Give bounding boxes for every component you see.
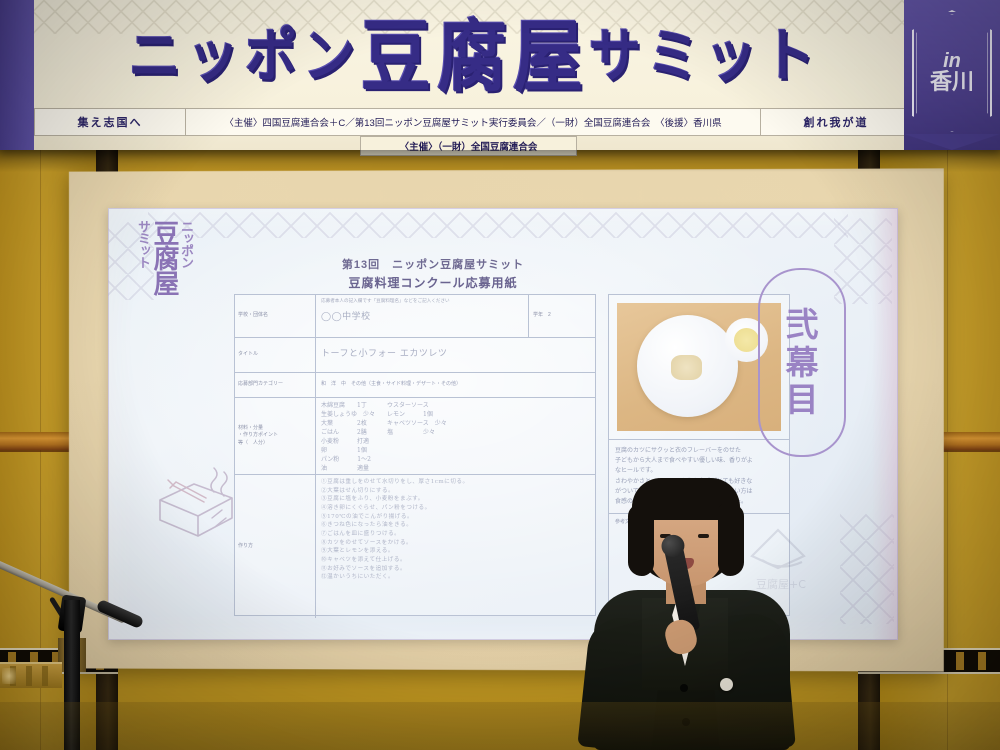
- banner-title-char: ニ: [129, 28, 181, 86]
- banner-title-char: ン: [303, 28, 355, 86]
- blazer-button: [680, 684, 688, 692]
- sconce-light-glow: [2, 668, 16, 684]
- photo-scene: サミット 豆腐屋 ニッポン 第13回 ニッポン豆腐屋サミット 豆腐料理コンクール…: [0, 0, 1000, 750]
- presenter-lapel-badge: [720, 678, 733, 691]
- banner-right-edge: in 香川: [904, 0, 1000, 150]
- banner-title-char: ッ: [187, 28, 239, 86]
- banner-title-char: サ: [589, 28, 641, 86]
- badge-kagawa-label: 香川: [930, 72, 974, 94]
- in-kagawa-badge: in 香川: [912, 10, 992, 136]
- banner-info-bar: 集え志国へ 〈主催〉四国豆腐連合会＋C／第13回ニッポン豆腐屋サミット実行委員会…: [34, 108, 912, 136]
- banner-title-char: ミ: [647, 28, 699, 86]
- banner-left-slogan: 集え志国へ: [35, 109, 186, 135]
- banner-left-edge: [0, 0, 34, 150]
- presenter-eye-right: [698, 534, 709, 538]
- banner-drop-shadow: [0, 150, 1000, 172]
- banner-right-slogan: 創れ我が道: [761, 109, 911, 135]
- banner-title: ニ ッ ポ ン 豆 腐 屋 サ ミ ッ ト: [34, 8, 910, 106]
- banner-title-char: ポ: [245, 28, 297, 86]
- banner-title-char: 豆: [361, 18, 431, 96]
- banner-title-char: ッ: [705, 28, 757, 86]
- banner-title-char: 腐: [437, 18, 507, 96]
- badge-in-label: in: [943, 51, 961, 71]
- presenter-hair-right: [718, 504, 744, 576]
- banner-title-char: 屋: [513, 18, 583, 96]
- presenter-hair-left: [628, 504, 654, 576]
- banner-organizers: 〈主催〉四国豆腐連合会＋C／第13回ニッポン豆腐屋サミット実行委員会／（一財）全…: [186, 109, 761, 135]
- stage-floor: [0, 702, 1000, 750]
- banner-title-char: ト: [763, 28, 815, 86]
- badge-text: in 香川: [912, 10, 992, 136]
- event-banner: ニ ッ ポ ン 豆 腐 屋 サ ミ ッ ト 集え志国へ 〈主催〉四国豆腐連合会＋…: [0, 0, 1000, 150]
